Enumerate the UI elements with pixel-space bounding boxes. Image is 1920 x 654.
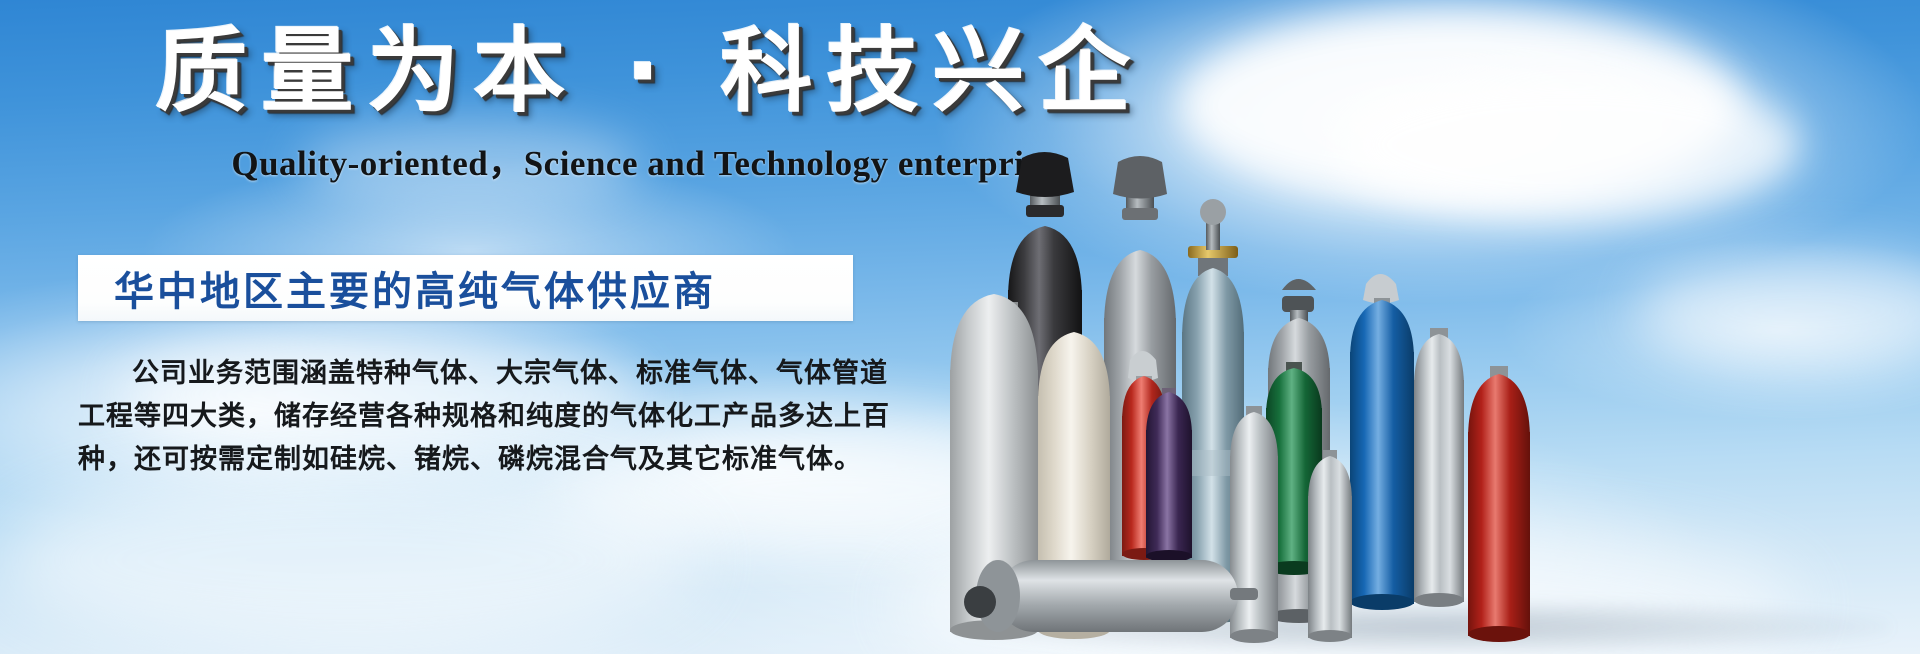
cloud-wisp: [0, 470, 700, 650]
body-line: 种，还可按需定制如硅烷、锗烷、磷烷混合气及其它标准气体。: [78, 438, 868, 481]
cylinder-horizontal-grey: [964, 560, 1258, 632]
banner-body-copy: 公司业务范围涵盖特种气体、大宗气体、标准气体、气体管道 工程等四大类，储存经营各…: [78, 352, 868, 481]
body-line: 工程等四大类，储存经营各种规格和纯度的气体化工产品多达上百: [78, 395, 868, 438]
cylinder-red-large: [1468, 366, 1530, 642]
cylinder-aluminium-1: [1414, 328, 1464, 607]
promotional-banner: 质量为本 · 科技兴企 Quality-oriented，Science and…: [0, 0, 1920, 654]
tagline-text: 华中地区主要的高纯气体供应商: [114, 259, 716, 317]
gas-cylinders-illustration: [930, 150, 1920, 654]
cylinder-aluminium-3: [1308, 450, 1352, 642]
body-line: 公司业务范围涵盖特种气体、大宗气体、标准气体、气体管道: [78, 352, 868, 395]
cylinder-blue-tall: [1350, 274, 1414, 610]
cylinder-aluminium-2: [1230, 406, 1278, 643]
tagline-box: 华中地区主要的高纯气体供应商: [78, 255, 853, 321]
gas-cylinder-cluster: [930, 150, 1920, 654]
cylinder-purple-small: [1146, 388, 1192, 562]
banner-headline: 质量为本 · 科技兴企: [0, 22, 1300, 121]
